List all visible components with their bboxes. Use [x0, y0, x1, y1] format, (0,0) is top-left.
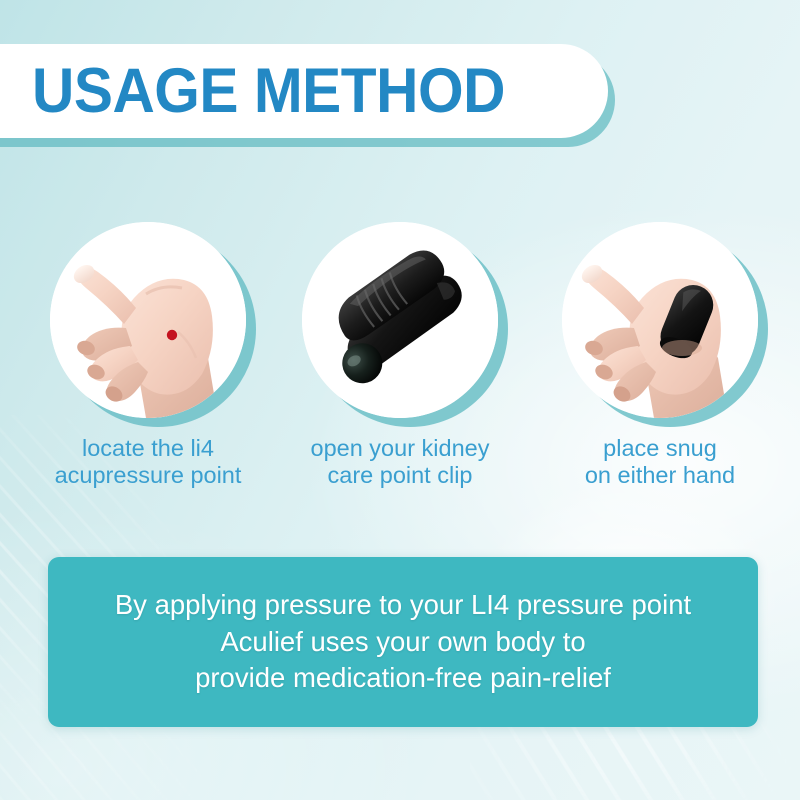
step-3-caption-line-2: on either hand [530, 462, 790, 489]
usage-method-infographic: USAGE METHOD [0, 0, 800, 800]
step-1-image-circle [50, 222, 246, 418]
steps-row: locate the li4 acupressure point [0, 222, 800, 492]
step-2-caption: open your kidney care point clip [270, 435, 530, 490]
step-2-image-circle [302, 222, 498, 418]
step-1-caption-line-1: locate the li4 [18, 435, 278, 462]
step-2-caption-line-2: care point clip [270, 462, 530, 489]
step-item-2: open your kidney care point clip [270, 222, 530, 490]
black-acupressure-clip-photo [302, 222, 498, 418]
summary-line-1: By applying pressure to your LI4 pressur… [115, 587, 691, 624]
step-item-1: locate the li4 acupressure point [18, 222, 278, 490]
summary-line-2: Aculief uses your own body to [220, 624, 585, 661]
summary-line-3: provide medication-free pain-relief [195, 660, 611, 697]
page-title: USAGE METHOD [32, 60, 505, 123]
step-item-3: place snug on either hand [530, 222, 790, 490]
step-3-caption: place snug on either hand [530, 435, 790, 490]
step-3-caption-line-1: place snug [530, 435, 790, 462]
step-3-image-circle [562, 222, 758, 418]
acupressure-point-dot [167, 330, 177, 340]
step-1-caption: locate the li4 acupressure point [18, 435, 278, 490]
hand-with-li4-point-photo [50, 222, 246, 418]
summary-panel: By applying pressure to your LI4 pressur… [48, 557, 758, 727]
step-1-caption-line-2: acupressure point [18, 462, 278, 489]
step-2-caption-line-1: open your kidney [270, 435, 530, 462]
page-title-banner: USAGE METHOD [0, 44, 608, 138]
hand-wearing-clip-photo [562, 222, 758, 418]
